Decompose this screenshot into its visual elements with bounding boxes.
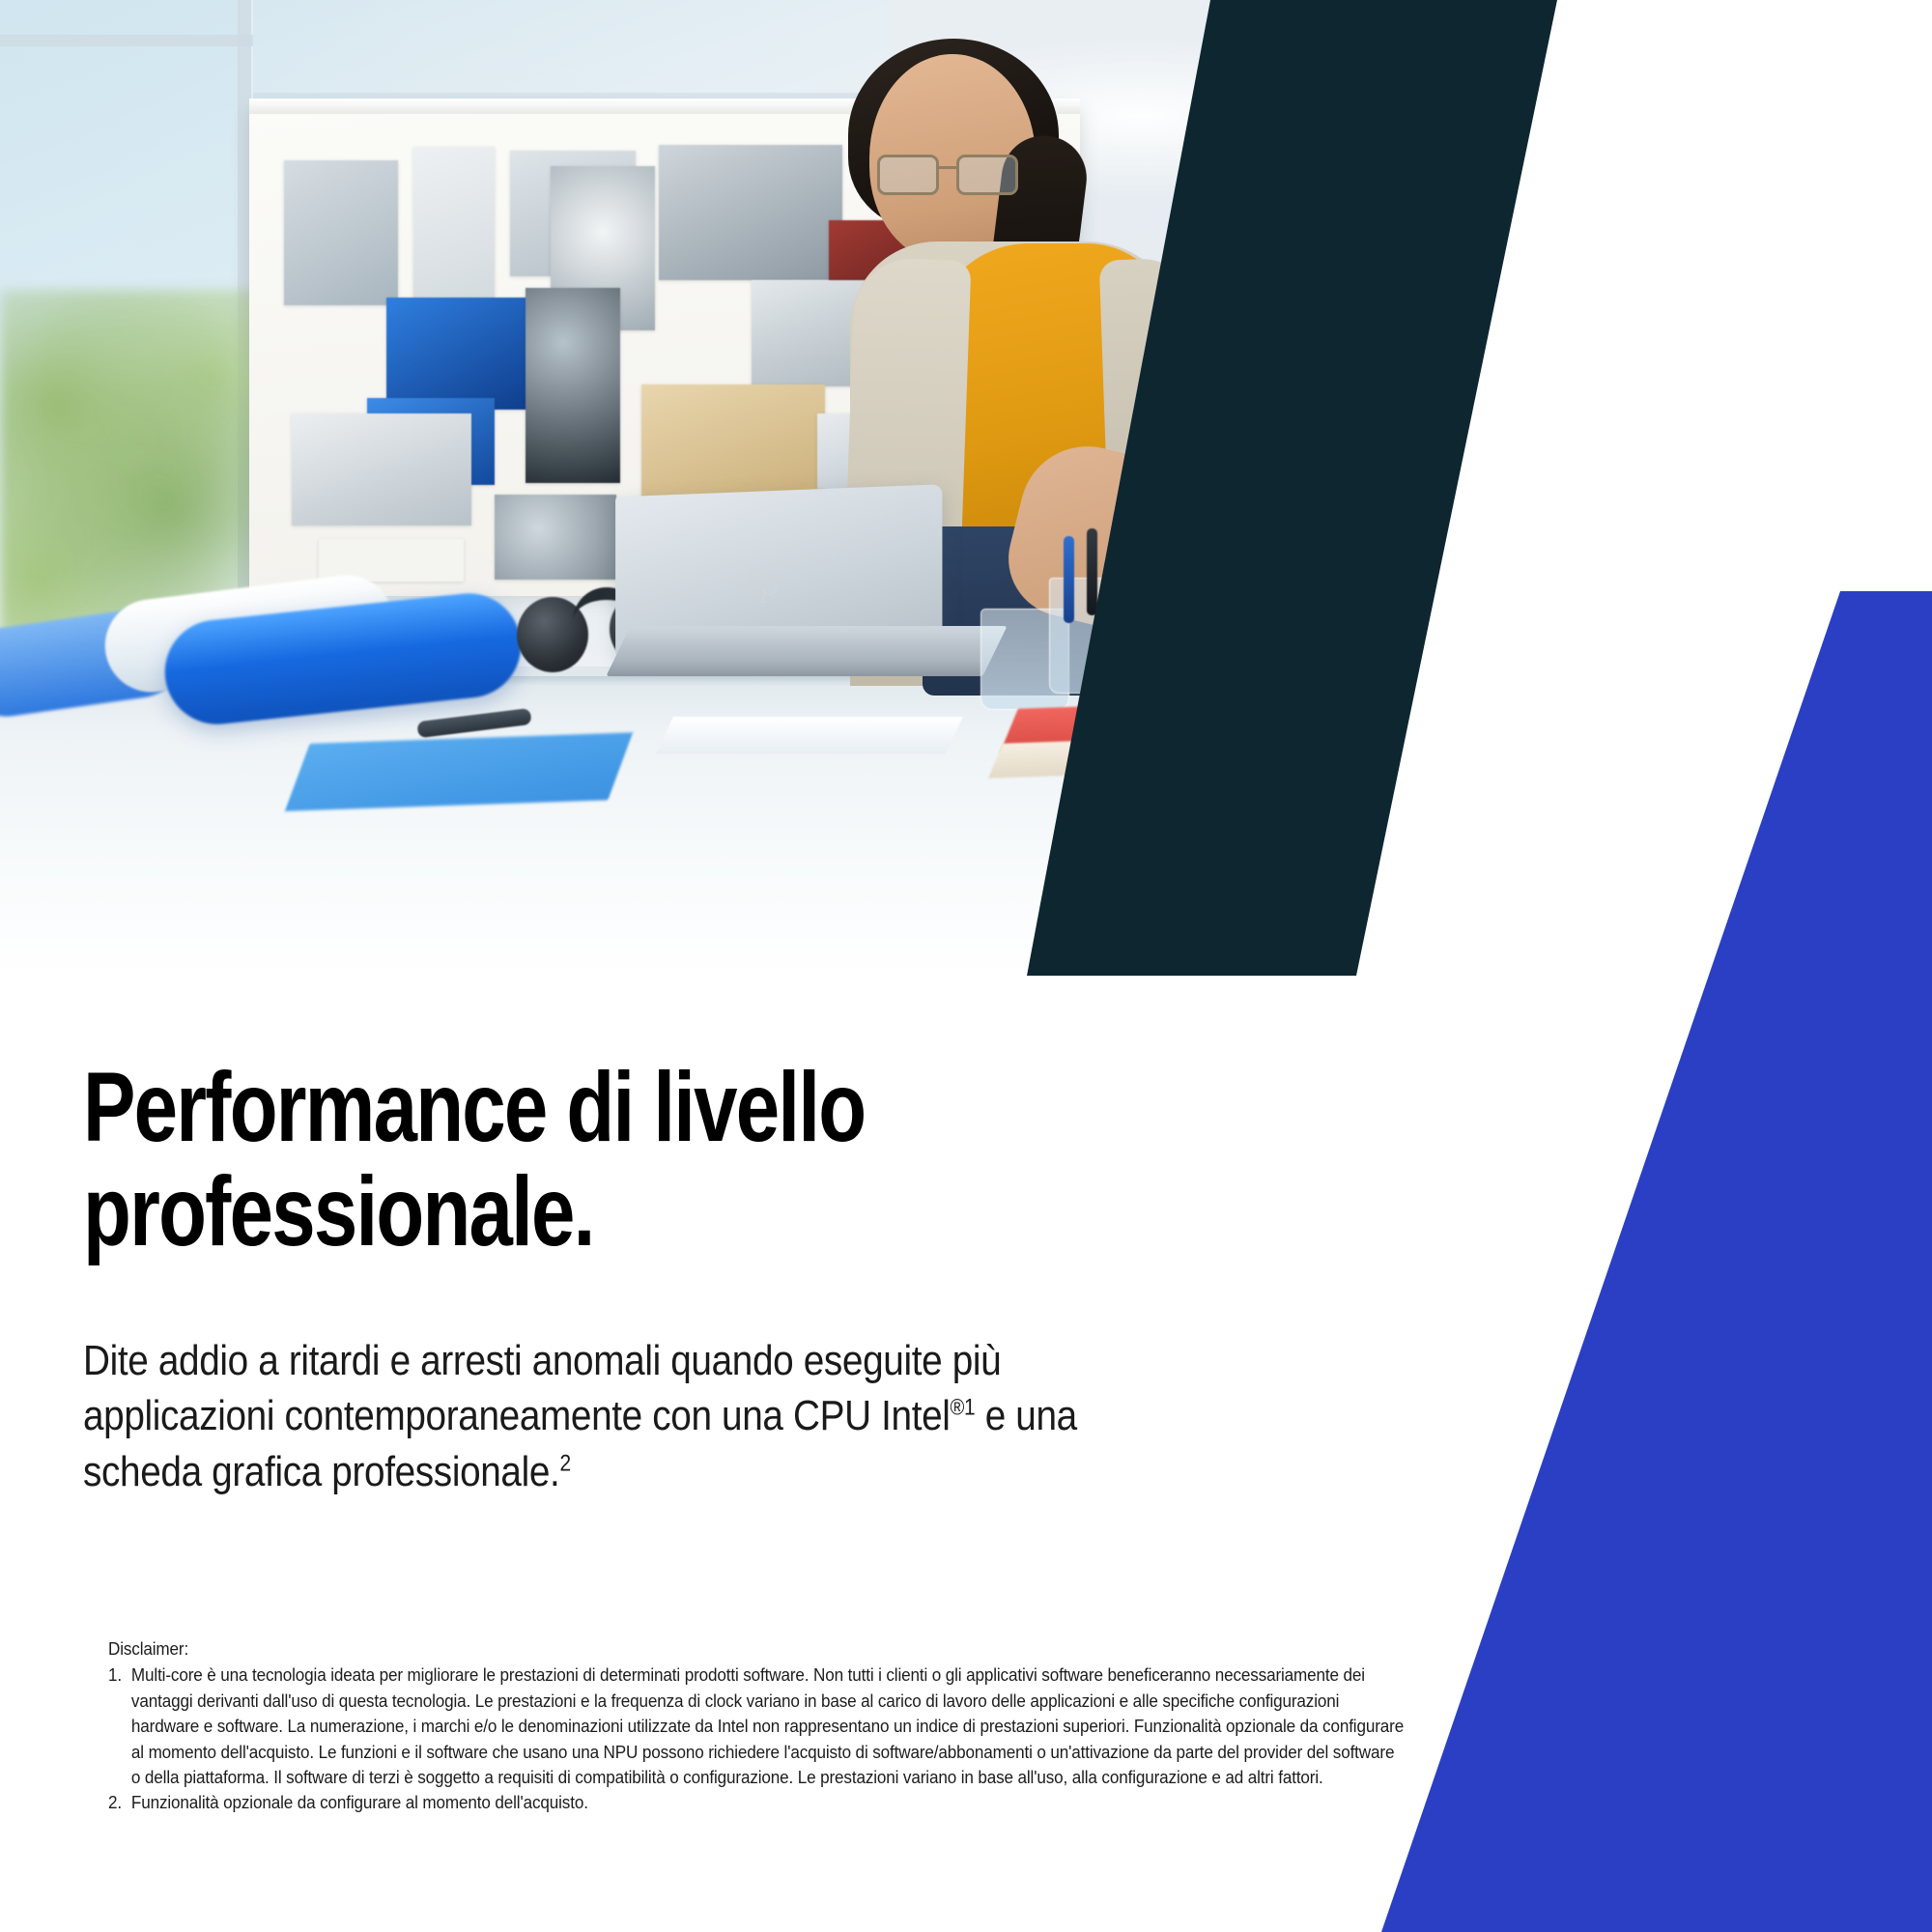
glasses-bridge bbox=[939, 166, 958, 169]
foliage-outside-window bbox=[0, 290, 280, 638]
page-title: Performance di livello professionale. bbox=[83, 1055, 1320, 1264]
moodboard-render-blue-supercar bbox=[386, 298, 531, 410]
disclaimer-block: Disclaimer: 1. Multi-core è una tecnolog… bbox=[108, 1636, 1406, 1816]
disclaimer-item-2: 2. Funzionalità opzionale da configurare… bbox=[108, 1790, 1406, 1815]
marketing-slide: hp Performance di livello professionale.… bbox=[0, 0, 1932, 1932]
footnote-ref-1: 1 bbox=[964, 1395, 975, 1421]
footnote-ref-2: 2 bbox=[559, 1450, 570, 1476]
hero-photo: hp bbox=[0, 0, 1401, 976]
pencil-grey bbox=[1131, 546, 1142, 633]
disclaimer-title: Disclaimer: bbox=[108, 1636, 1406, 1662]
glasses-lens-left bbox=[877, 155, 939, 195]
laptop-keyboard-base bbox=[606, 626, 1007, 676]
pen-silver bbox=[1110, 540, 1121, 627]
pen-blue bbox=[1064, 536, 1074, 623]
moodboard-sketch-car-front bbox=[284, 160, 398, 305]
disclaimer-item-2-number: 2. bbox=[108, 1790, 122, 1815]
pen-black bbox=[1087, 528, 1097, 615]
moodboard-photo-sportscar-silver bbox=[659, 145, 842, 280]
disclaimer-item-2-text: Funzionalità opzionale da configurare al… bbox=[131, 1792, 588, 1812]
registered-mark: ® bbox=[951, 1395, 964, 1420]
window-mullion-horizontal bbox=[0, 35, 253, 46]
window-pane-upper bbox=[253, 0, 891, 100]
person-glasses-icon bbox=[877, 155, 1022, 195]
blueprint-sheet-flat bbox=[285, 732, 633, 810]
disclaimer-item-1-text: Multi-core è una tecnologia ideata per m… bbox=[131, 1664, 1404, 1787]
subheadline-copy: Dite addio a ritardi e arresti anomali q… bbox=[83, 1333, 1163, 1499]
moodboard-sketch-convertible bbox=[292, 413, 471, 526]
moodboard-sketch-wheels-row bbox=[495, 495, 616, 580]
text-content-block: Performance di livello professionale. Di… bbox=[83, 1055, 1358, 1499]
disclaimer-item-1: 1. Multi-core è una tecnologia ideata pe… bbox=[108, 1662, 1406, 1790]
subcopy-part1: Dite addio a ritardi e arresti anomali q… bbox=[83, 1337, 1001, 1439]
hp-logo: hp bbox=[744, 565, 788, 602]
moodboard-grid-wheels bbox=[526, 288, 620, 483]
disclaimer-item-1-number: 1. bbox=[108, 1662, 122, 1688]
pen-holder bbox=[1049, 578, 1153, 694]
glasses-lens-right bbox=[956, 155, 1018, 195]
paper-documents bbox=[656, 717, 963, 753]
